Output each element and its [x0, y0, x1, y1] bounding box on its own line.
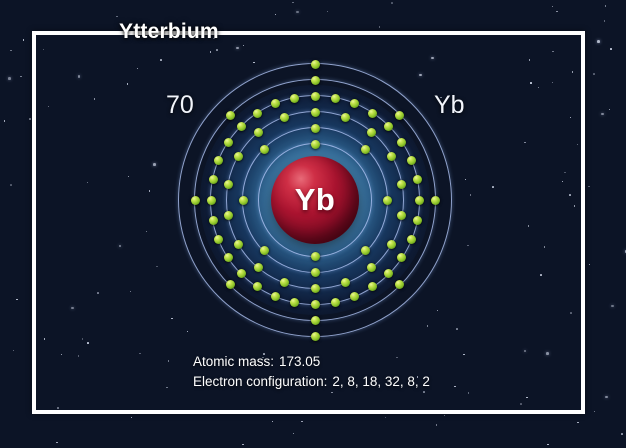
star-dot — [597, 40, 600, 43]
electron-shell-2 — [239, 196, 248, 205]
star-dot — [20, 76, 22, 78]
electron-shell-5 — [191, 196, 200, 205]
star-dot — [296, 11, 299, 14]
electron-shell-3 — [387, 240, 396, 249]
electron-shell-4 — [209, 216, 218, 225]
star-dot — [272, 421, 274, 423]
star-dot — [10, 50, 12, 52]
electron-shell-4 — [350, 292, 359, 301]
electron-shell-3 — [254, 128, 263, 137]
element-info-block: Atomic mass:173.05 Electron configuratio… — [193, 352, 430, 392]
star-dot — [23, 39, 25, 41]
electron-shell-6 — [311, 332, 320, 341]
electron-shell-1 — [311, 252, 320, 261]
electron-shell-2 — [260, 145, 269, 154]
electron-shell-2 — [383, 196, 392, 205]
atomic-mass-row: Atomic mass:173.05 — [193, 352, 430, 372]
star-dot — [577, 422, 579, 424]
star-dot — [589, 264, 591, 266]
electron-shell-4 — [415, 196, 424, 205]
star-dot — [552, 6, 554, 8]
electron-shell-4 — [331, 298, 340, 307]
electron-shell-5 — [311, 316, 320, 325]
electron-shell-5 — [431, 196, 440, 205]
electron-shell-4 — [237, 269, 246, 278]
electron-shell-4 — [397, 138, 406, 147]
electron-shell-4 — [413, 216, 422, 225]
electron-shell-2 — [311, 268, 320, 277]
electron-shell-4 — [407, 156, 416, 165]
star-dot — [379, 26, 381, 28]
electron-shell-3 — [397, 211, 406, 220]
electron-shell-4 — [413, 175, 422, 184]
electron-shell-5 — [226, 280, 235, 289]
star-dot — [605, 5, 607, 7]
atomic-number-label: 70 — [166, 91, 194, 120]
electron-shell-5 — [311, 76, 320, 85]
electron-configuration-label: Electron configuration: — [193, 374, 327, 389]
star-dot — [116, 16, 118, 18]
electron-shell-4 — [253, 109, 262, 118]
electron-shell-4 — [384, 122, 393, 131]
star-dot — [601, 113, 604, 116]
star-dot — [301, 421, 303, 423]
electron-shell-5 — [226, 111, 235, 120]
electron-shell-3 — [341, 113, 350, 122]
star-dot — [444, 415, 446, 417]
electron-shell-2 — [361, 145, 370, 154]
electron-configuration-value: 2, 8, 18, 32, 8, 2 — [332, 374, 430, 389]
electron-shell-4 — [253, 282, 262, 291]
star-dot — [604, 20, 606, 22]
star-dot — [621, 433, 623, 435]
electron-shell-3 — [234, 240, 243, 249]
electron-shell-6 — [311, 60, 320, 69]
electron-shell-3 — [341, 278, 350, 287]
electron-shell-4 — [311, 300, 320, 309]
star-dot — [556, 11, 558, 13]
element-infographic: Ytterbium 70 Yb Yb Atomic mass:173.05 El… — [0, 0, 626, 448]
electron-shell-4 — [290, 298, 299, 307]
electron-shell-4 — [224, 138, 233, 147]
electron-configuration-row: Electron configuration:2, 8, 18, 32, 8, … — [193, 372, 430, 392]
electron-shell-4 — [311, 92, 320, 101]
star-dot — [13, 350, 15, 352]
electron-shell-4 — [407, 235, 416, 244]
electron-shell-4 — [290, 94, 299, 103]
star-dot — [8, 77, 11, 80]
star-dot — [588, 186, 590, 188]
electron-shell-3 — [311, 284, 320, 293]
electron-shell-2 — [311, 124, 320, 133]
star-dot — [16, 299, 18, 301]
electron-shell-4 — [331, 94, 340, 103]
star-dot — [4, 120, 6, 122]
electron-shell-4 — [384, 269, 393, 278]
electron-shell-4 — [271, 292, 280, 301]
star-dot — [605, 396, 608, 399]
star-dot — [593, 73, 595, 75]
electron-shell-3 — [387, 152, 396, 161]
star-dot — [547, 444, 549, 446]
electron-shell-2 — [260, 246, 269, 255]
element-symbol-label: Yb — [434, 91, 465, 120]
star-dot — [293, 433, 295, 435]
electron-shell-5 — [395, 111, 404, 120]
star-dot — [131, 417, 133, 419]
star-dot — [327, 11, 329, 13]
star-dot — [609, 109, 611, 111]
electron-shell-ring-6 — [178, 63, 452, 337]
star-dot — [391, 2, 393, 4]
page-title: Ytterbium — [112, 20, 226, 44]
electron-shell-3 — [367, 263, 376, 272]
star-dot — [275, 14, 277, 16]
electron-shell-4 — [207, 196, 216, 205]
star-dot — [56, 442, 58, 444]
electron-shell-3 — [254, 263, 263, 272]
electron-shell-4 — [237, 122, 246, 131]
atomic-mass-label: Atomic mass: — [193, 354, 274, 369]
star-dot — [611, 305, 614, 308]
electron-shell-3 — [234, 152, 243, 161]
star-dot — [436, 424, 438, 426]
electron-shell-3 — [311, 108, 320, 117]
electron-shell-1 — [311, 140, 320, 149]
star-dot — [242, 444, 244, 446]
star-dot — [10, 184, 12, 186]
star-dot — [610, 48, 612, 50]
star-dot — [385, 417, 387, 419]
electron-shell-3 — [224, 211, 233, 220]
star-dot — [292, 2, 294, 4]
electron-shell-4 — [209, 175, 218, 184]
star-dot — [594, 411, 596, 413]
star-dot — [29, 118, 31, 120]
atomic-mass-value: 173.05 — [279, 354, 320, 369]
